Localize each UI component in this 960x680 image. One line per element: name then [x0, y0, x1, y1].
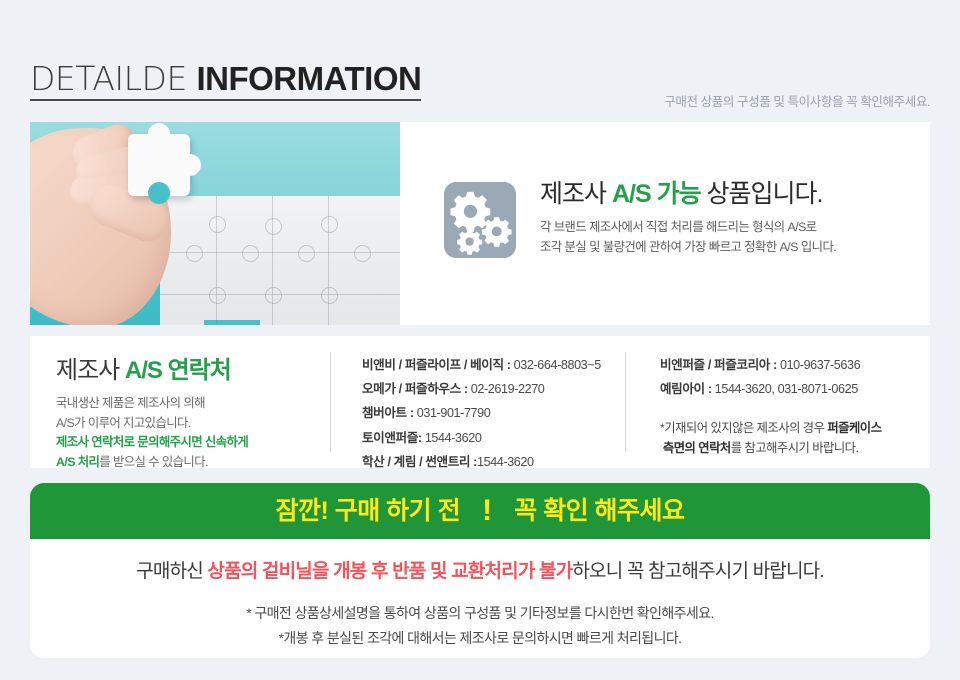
contact-heading-prefix: 제조사	[56, 357, 125, 384]
contact-heading: 제조사 A/S 연락처	[56, 350, 326, 385]
warning-sub-text: * 구매전 상품상세설명을 통하여 상품의 구성품 및 기타정보를 다시한번 확…	[30, 601, 930, 651]
contact-panel: 제조사 A/S 연락처 국내생산 제품은 제조사의 의해 A/S가 이루어 지고…	[30, 336, 930, 468]
contact-note-line-3: 제조사 연락처로 문의해주시면 신속하게	[56, 433, 326, 453]
warning-main-text: 구매하신 상품의 겉비닐을 개봉 후 반품 및 교환처리가 불가하오니 꼭 참고…	[30, 561, 930, 584]
contact-brand-name: 학산 / 계림 / 썬앤트리 :	[362, 455, 477, 469]
as-title-prefix: 제조사	[540, 180, 612, 208]
contact-phone-number: 1544-3620, 031-8071-0625	[712, 382, 858, 396]
contact-list-item: 학산 / 계림 / 썬앤트리 :1544-3620	[362, 450, 612, 474]
contact-brand-name: 비앤비 / 퍼즐라이프 / 베이직 :	[362, 358, 511, 372]
contact-footnote-line-2: 측면의 연락처를 참고해주시기 바랍니다.	[660, 439, 930, 459]
photo-puzzle-gridlines	[160, 196, 400, 325]
contact-brand-name: 비엔퍼즐 / 퍼즐코리아 :	[660, 358, 777, 372]
contact-phone-number: 02-2619-2270	[468, 382, 545, 396]
contact-footnote-text: 를 참고해주시기 바랍니다.	[731, 441, 859, 455]
contact-phone-number: 1544-3620	[422, 431, 482, 445]
contact-brand-name: 챔버아트 :	[362, 406, 414, 420]
contact-brand-name: 예림아이 :	[660, 382, 712, 396]
exclamation-icon: !	[482, 496, 492, 526]
contact-phone-number: 1544-3620	[477, 455, 534, 469]
contact-divider-1	[330, 352, 331, 452]
contact-note-line-1: 국내생산 제품은 제조사의 의해	[56, 394, 326, 414]
contact-column-1: 비앤비 / 퍼즐라이프 / 베이직 : 032-664-8803~5 오메가 /…	[362, 353, 612, 474]
contact-phone-number: 010-9637-5636	[777, 358, 860, 372]
contact-phone-number: 032-664-8803~5	[511, 358, 601, 372]
contact-list-item: 토이앤퍼즐: 1544-3620	[362, 426, 612, 450]
contact-heading-accent: A/S 연락처	[125, 357, 231, 384]
contact-footnote-text: *기재되어 있지않은 제조사의 경우	[660, 421, 827, 435]
warning-banner: 잠깐! 구매 하기 전 ! 꼭 확인 해주세요	[30, 483, 930, 539]
contact-divider-2	[625, 352, 626, 452]
purchase-warning-card: 잠깐! 구매 하기 전 ! 꼭 확인 해주세요 구매하신 상품의 겉비닐을 개봉…	[30, 483, 930, 658]
puzzle-photo	[30, 122, 400, 325]
header-subtitle: 구매전 상품의 구성품 및 특이사항을 꼭 확인해주세요.	[664, 91, 930, 110]
page-title-light: DETAILDE	[30, 59, 187, 98]
contact-footnote: *기재되어 있지않은 제조사의 경우 퍼즐케이스 측면의 연락처를 참고해주시기…	[660, 419, 930, 458]
contact-note-line-4-highlight: A/S 처리	[56, 455, 99, 469]
contact-note-line-2: A/S가 이루어 지고있습니다.	[56, 414, 326, 434]
contact-phone-number: 031-901-7790	[414, 406, 491, 420]
contact-list-item: 챔버아트 : 031-901-7790	[362, 401, 612, 425]
page-title: DETAILDE INFORMATION	[30, 62, 421, 101]
as-title-accent: A/S 가능	[612, 180, 701, 208]
contact-list-item: 비엔퍼즐 / 퍼즐코리아 : 010-9637-5636	[660, 353, 930, 377]
warning-sub-line-2: *개봉 후 분실된 조각에 대해서는 제조사로 문의하시면 빠르게 처리됩니다.	[30, 626, 930, 651]
contact-intro: 제조사 A/S 연락처 국내생산 제품은 제조사의 의해 A/S가 이루어 지고…	[56, 350, 326, 472]
contact-brand-name: 토이앤퍼즐:	[362, 431, 422, 445]
contact-brand-name: 오메가 / 퍼즐하우스 :	[362, 382, 468, 396]
as-title-suffix: 상품입니다.	[701, 180, 823, 208]
warning-prefix: 구매하신	[136, 561, 207, 582]
page-header: DETAILDE INFORMATION 구매전 상품의 구성품 및 특이사항을…	[30, 62, 930, 112]
as-notice-text: 제조사 A/S 가능 상품입니다. 각 브랜드 제조사에서 직접 처리를 해드리…	[540, 180, 910, 258]
banner-label-left: 잠깐! 구매 하기 전	[275, 499, 460, 524]
as-notice-panel: 제조사 A/S 가능 상품입니다. 각 브랜드 제조사에서 직접 처리를 해드리…	[30, 122, 930, 325]
contact-footnote-line-1: *기재되어 있지않은 제조사의 경우 퍼즐케이스	[660, 419, 930, 439]
warning-highlight: 상품의 겉비닐을 개봉 후 반품 및 교환처리가 불가	[207, 561, 572, 582]
contact-footnote-emphasis: 측면의 연락처	[663, 441, 731, 455]
warning-suffix: 하오니 꼭 참고해주시기 바랍니다.	[572, 561, 823, 582]
as-desc-line-2: 조각 분실 및 불량건에 관하여 가장 빠르고 정확한 A/S 입니다.	[540, 238, 910, 258]
banner-label-right: 꼭 확인 해주세요	[514, 499, 684, 524]
as-notice-description: 각 브랜드 제조사에서 직접 처리를 해드리는 형식의 A/S로 조각 분실 및…	[540, 218, 910, 258]
photo-puzzle-piece	[128, 134, 190, 196]
contact-list-item: 비앤비 / 퍼즐라이프 / 베이직 : 032-664-8803~5	[362, 353, 612, 377]
product-detail-page: DETAILDE INFORMATION 구매전 상품의 구성품 및 특이사항을…	[0, 0, 960, 680]
contact-footnote-emphasis: 퍼즐케이스	[827, 421, 881, 435]
as-notice-content: 제조사 A/S 가능 상품입니다. 각 브랜드 제조사에서 직접 처리를 해드리…	[400, 122, 930, 325]
contact-list-item: 예림아이 : 1544-3620, 031-8071-0625	[660, 377, 930, 401]
warning-body: 구매하신 상품의 겉비닐을 개봉 후 반품 및 교환처리가 불가하오니 꼭 참고…	[30, 539, 930, 651]
contact-note: 국내생산 제품은 제조사의 의해 A/S가 이루어 지고있습니다. 제조사 연락…	[56, 394, 326, 472]
gears-icon	[444, 182, 516, 258]
contact-note-line-4: A/S 처리를 받으실 수 있습니다.	[56, 453, 326, 473]
contact-note-line-4-rest: 를 받으실 수 있습니다.	[99, 455, 208, 469]
page-title-bold: INFORMATION	[196, 60, 421, 97]
contact-column-2: 비엔퍼즐 / 퍼즐코리아 : 010-9637-5636 예림아이 : 1544…	[660, 353, 930, 459]
as-desc-line-1: 각 브랜드 제조사에서 직접 처리를 해드리는 형식의 A/S로	[540, 218, 910, 238]
contact-list-item: 오메가 / 퍼즐하우스 : 02-2619-2270	[362, 377, 612, 401]
warning-sub-line-1: * 구매전 상품상세설명을 통하여 상품의 구성품 및 기타정보를 다시한번 확…	[30, 601, 930, 626]
as-notice-title: 제조사 A/S 가능 상품입니다.	[540, 180, 910, 209]
